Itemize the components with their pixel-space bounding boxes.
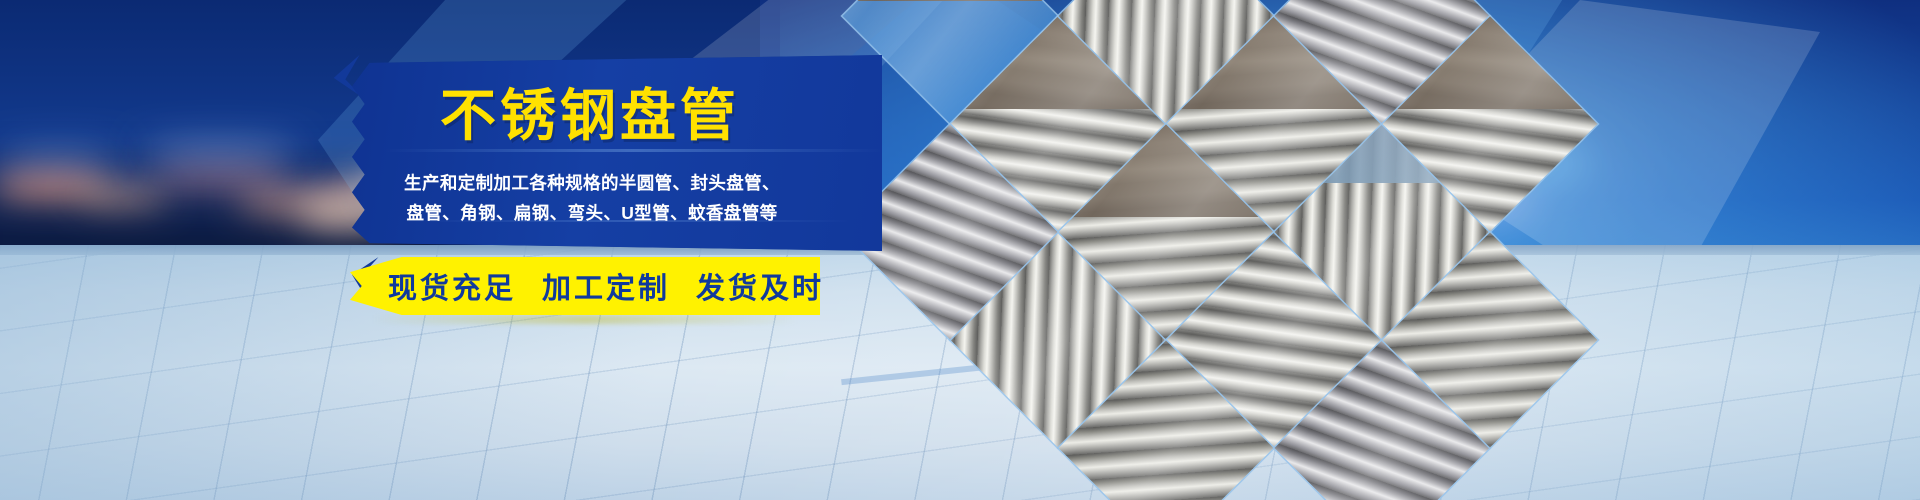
bokeh-light [78,186,168,206]
bokeh-light [150,166,290,188]
subtitle-text: 生产和定制加工各种规格的半圆管、封头盘管、 盘管、角钢、扁钢、弯头、U型管、蚊香… [392,168,792,228]
panel-light-beam [384,149,882,152]
subtitle-line-1: 生产和定制加工各种规格的半圆管、封头盘管、 [392,168,792,198]
bokeh-light [140,140,300,158]
subtitle-line-2: 盘管、角钢、扁钢、弯头、U型管、蚊香盘管等 [392,198,792,228]
feature-item-1: 现货充足 [388,265,516,307]
feature-ribbon-text: 现货充足 加工定制 发货及时 [350,257,820,315]
bokeh-light [0,146,120,162]
page-title: 不锈钢盘管 [440,88,860,144]
feature-ribbon: 现货充足 加工定制 发货及时 [350,257,820,315]
feature-item-3: 发货及时 [696,265,824,307]
ribbon-shadow [372,315,798,324]
feature-item-2: 加工定制 [542,265,670,307]
product-image-collage [838,0,1538,500]
product-hero-banner: 不锈钢盘管 生产和定制加工各种规格的半圆管、封头盘管、 盘管、角钢、扁钢、弯头、… [0,0,1920,500]
